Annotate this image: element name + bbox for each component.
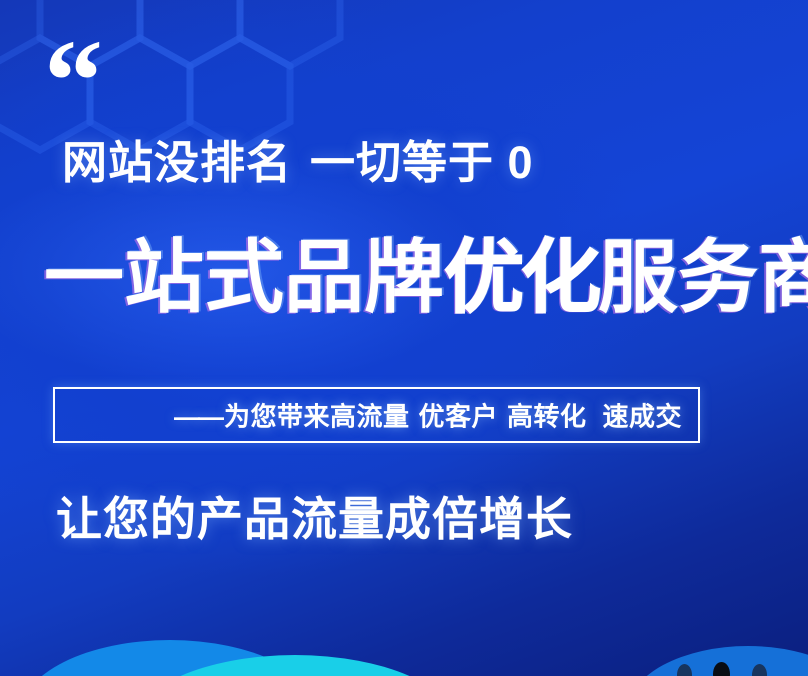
kicker-part-1: 网站没排名 xyxy=(62,137,292,188)
tagline-phrase-2: 优客户 xyxy=(418,402,498,432)
tagline-phrase-4: 速成交 xyxy=(602,402,682,432)
tagline-text: ——为您带来高流量优客户高转化速成交 xyxy=(174,397,682,434)
closing-statement: 让您的产品流量成倍增长 xyxy=(56,483,573,549)
promo-poster: “ 网站没排名一切等于 0 一站式品牌优化服务商 ——为您带来高流量优客户高转化… xyxy=(0,0,808,676)
headline-trail: 服务商 xyxy=(598,233,808,322)
tagline-box: ——为您带来高流量优客户高转化速成交 xyxy=(53,387,700,443)
tagline-phrase-3: 高转化 xyxy=(507,402,587,432)
tagline-dash: —— xyxy=(174,402,222,432)
headline-emphasis: 优化 xyxy=(444,233,598,322)
main-headline: 一站式品牌优化服务商 xyxy=(44,238,808,318)
kicker-part-2: 一切等于 0 xyxy=(310,137,534,188)
quotation-mark-icon: “ xyxy=(44,22,101,140)
kicker-line: 网站没排名一切等于 0 xyxy=(62,126,534,191)
tagline-phrase-1: 为您带来高流量 xyxy=(224,402,410,432)
headline-lead: 一站式品牌 xyxy=(44,233,444,322)
poster-content: “ 网站没排名一切等于 0 一站式品牌优化服务商 ——为您带来高流量优客户高转化… xyxy=(0,0,808,676)
